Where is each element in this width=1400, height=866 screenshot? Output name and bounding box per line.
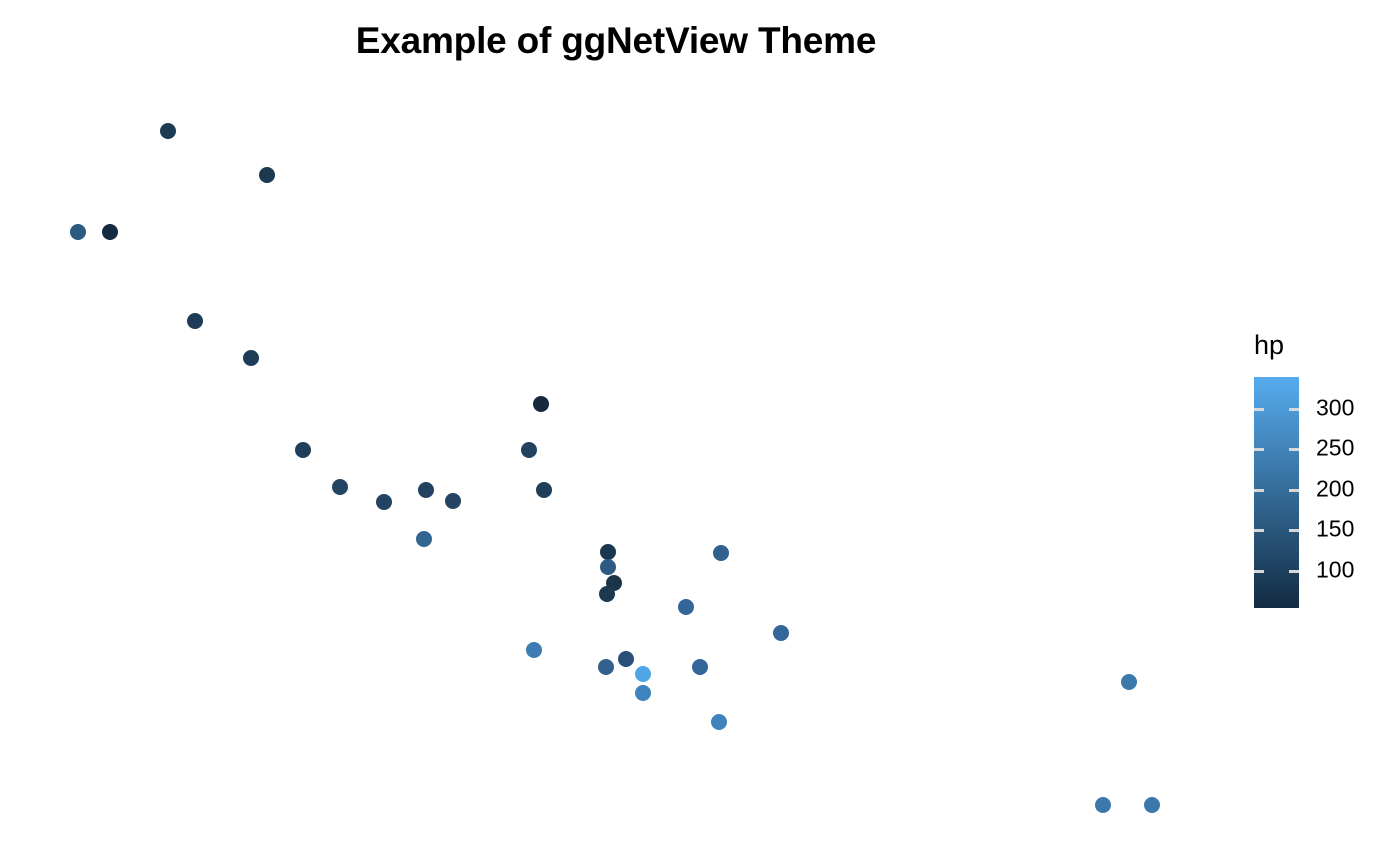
data-point (533, 396, 549, 412)
data-point (600, 559, 616, 575)
legend-tick-mark (1289, 448, 1299, 451)
legend-tick-label: 300 (1316, 395, 1354, 422)
data-point (70, 224, 86, 240)
legend-tick-label: 100 (1316, 557, 1354, 584)
legend-gradient (1254, 377, 1299, 608)
data-point (416, 531, 432, 547)
legend-tick-mark (1289, 408, 1299, 411)
data-point (376, 494, 392, 510)
data-point (598, 659, 614, 675)
data-point (536, 482, 552, 498)
data-point (332, 479, 348, 495)
data-point (1095, 797, 1111, 813)
data-point (678, 599, 694, 615)
legend-tick-mark (1254, 408, 1264, 411)
data-point (102, 224, 118, 240)
legend-tick-mark (1289, 489, 1299, 492)
legend-tick-mark (1289, 570, 1299, 573)
legend-tick-label: 200 (1316, 476, 1354, 503)
data-point (599, 586, 615, 602)
legend-tick-mark (1254, 448, 1264, 451)
legend-title: hp (1254, 330, 1284, 360)
data-point (713, 545, 729, 561)
data-point (692, 659, 708, 675)
data-point (526, 642, 542, 658)
data-point (418, 482, 434, 498)
data-point (445, 493, 461, 509)
legend-tick-mark (1254, 489, 1264, 492)
data-point (187, 313, 203, 329)
legend-tick-mark (1254, 570, 1264, 573)
legend-tick-label: 250 (1316, 435, 1354, 462)
data-point (635, 666, 651, 682)
data-point (259, 167, 275, 183)
data-point (635, 685, 651, 701)
scatter-plot-figure: Example of ggNetView Theme hp 3002502001… (0, 0, 1400, 866)
data-point (773, 625, 789, 641)
plot-panel (0, 0, 1232, 866)
data-point (711, 714, 727, 730)
legend-colorbar (1254, 377, 1299, 608)
legend-tick-mark (1289, 529, 1299, 532)
legend-tick-mark (1254, 529, 1264, 532)
data-point (618, 651, 634, 667)
legend-tick-label: 150 (1316, 516, 1354, 543)
data-point (600, 544, 616, 560)
data-point (160, 123, 176, 139)
data-point (1121, 674, 1137, 690)
data-point (295, 442, 311, 458)
data-point (243, 350, 259, 366)
page-title: Example of ggNetView Theme (0, 20, 1232, 62)
data-point (1144, 797, 1160, 813)
data-point (521, 442, 537, 458)
